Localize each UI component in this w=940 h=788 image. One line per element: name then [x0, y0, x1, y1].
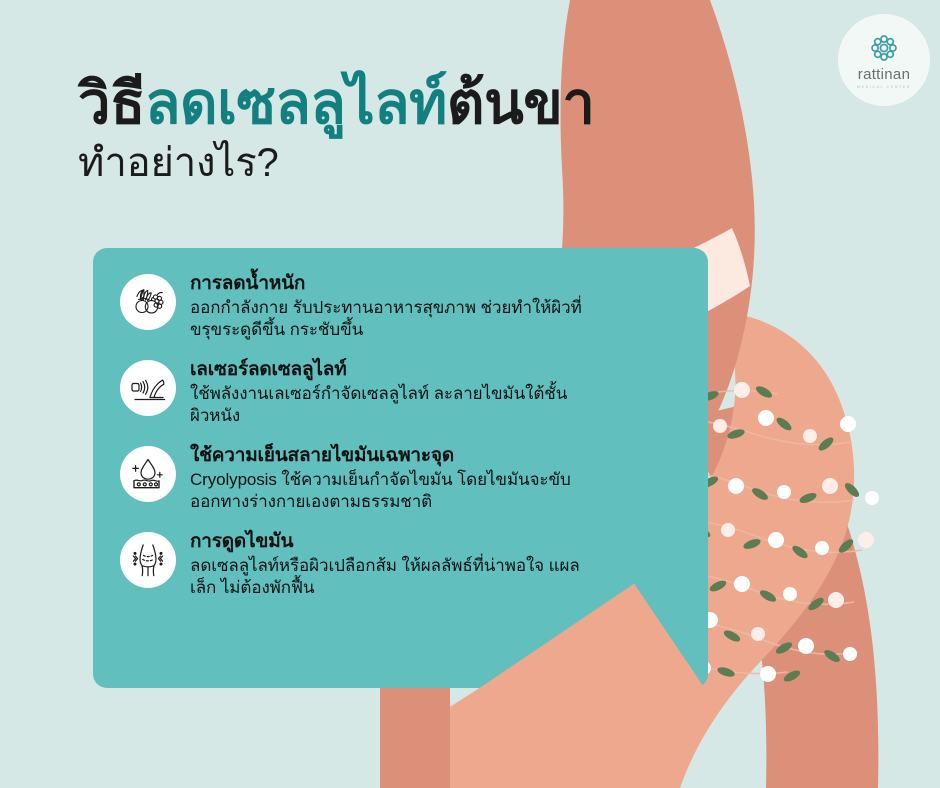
- list-item-body: ลดเซลลูไลท์หรือผิวเปลือกส้ม ให้ผลลัพธ์ที…: [190, 555, 590, 600]
- cold-droplet-skin-icon: [120, 446, 176, 502]
- title-prefix: วิธี: [78, 71, 145, 136]
- list-item-text: ใช้ความเย็นสลายไขมันเฉพาะจุด Cryolyposis…: [190, 442, 688, 514]
- fruits-icon: [120, 274, 176, 330]
- list-item-title: เลเซอร์ลดเซลลูไลท์: [190, 358, 688, 382]
- brand-logo: rattinan MEDICAL CENTER: [838, 14, 930, 106]
- list-item[interactable]: การลดน้ำหนัก ออกกำลังกาย รับประทานอาหารส…: [93, 270, 708, 342]
- body-contour-icon: [120, 532, 176, 588]
- list-item[interactable]: เลเซอร์ลดเซลลูไลท์ ใช้พลังงานเลเซอร์กำจั…: [93, 356, 708, 428]
- title-accent: ลดเซลลูไลท์: [145, 71, 447, 136]
- flower-icon: [867, 31, 901, 65]
- list-item-text: การดูดไขมัน ลดเซลลูไลท์หรือผิวเปลือกส้ม …: [190, 528, 688, 600]
- treatment-items: การลดน้ำหนัก ออกกำลังกาย รับประทานอาหารส…: [93, 248, 708, 614]
- title-line-1: วิธีลดเซลลูไลท์ต้นขา: [78, 74, 778, 134]
- list-item[interactable]: ใช้ความเย็นสลายไขมันเฉพาะจุด Cryolyposis…: [93, 442, 708, 514]
- logo-brand-text: rattinan: [858, 67, 910, 82]
- list-item-title: การดูดไขมัน: [190, 530, 688, 554]
- infographic-canvas: rattinan MEDICAL CENTER วิธีลดเซลลูไลท์ต…: [0, 0, 940, 788]
- title-suffix: ต้นขา: [447, 71, 595, 136]
- list-item-title: การลดน้ำหนัก: [190, 272, 688, 296]
- list-item-body: ออกกำลังกาย รับประทานอาหารสุขภาพ ช่วยทำใ…: [190, 297, 590, 342]
- laser-leg-icon: [120, 360, 176, 416]
- treatment-list-panel: การลดน้ำหนัก ออกกำลังกาย รับประทานอาหารส…: [93, 248, 708, 688]
- list-item-body: ใช้พลังงานเลเซอร์กำจัดเซลลูไลท์ ละลายไขม…: [190, 383, 590, 428]
- title-line-2: ทำอย่างไร?: [78, 140, 778, 186]
- list-item-text: เลเซอร์ลดเซลลูไลท์ ใช้พลังงานเลเซอร์กำจั…: [190, 356, 688, 428]
- page-title: วิธีลดเซลลูไลท์ต้นขา ทำอย่างไร?: [78, 74, 778, 186]
- list-item[interactable]: การดูดไขมัน ลดเซลลูไลท์หรือผิวเปลือกส้ม …: [93, 528, 708, 600]
- list-item-text: การลดน้ำหนัก ออกกำลังกาย รับประทานอาหารส…: [190, 270, 688, 342]
- list-item-body: Cryolyposis ใช้ความเย็นกำจัดไขมัน โดยไขม…: [190, 469, 590, 514]
- logo-subtitle: MEDICAL CENTER: [857, 85, 911, 89]
- list-item-title: ใช้ความเย็นสลายไขมันเฉพาะจุด: [190, 444, 688, 468]
